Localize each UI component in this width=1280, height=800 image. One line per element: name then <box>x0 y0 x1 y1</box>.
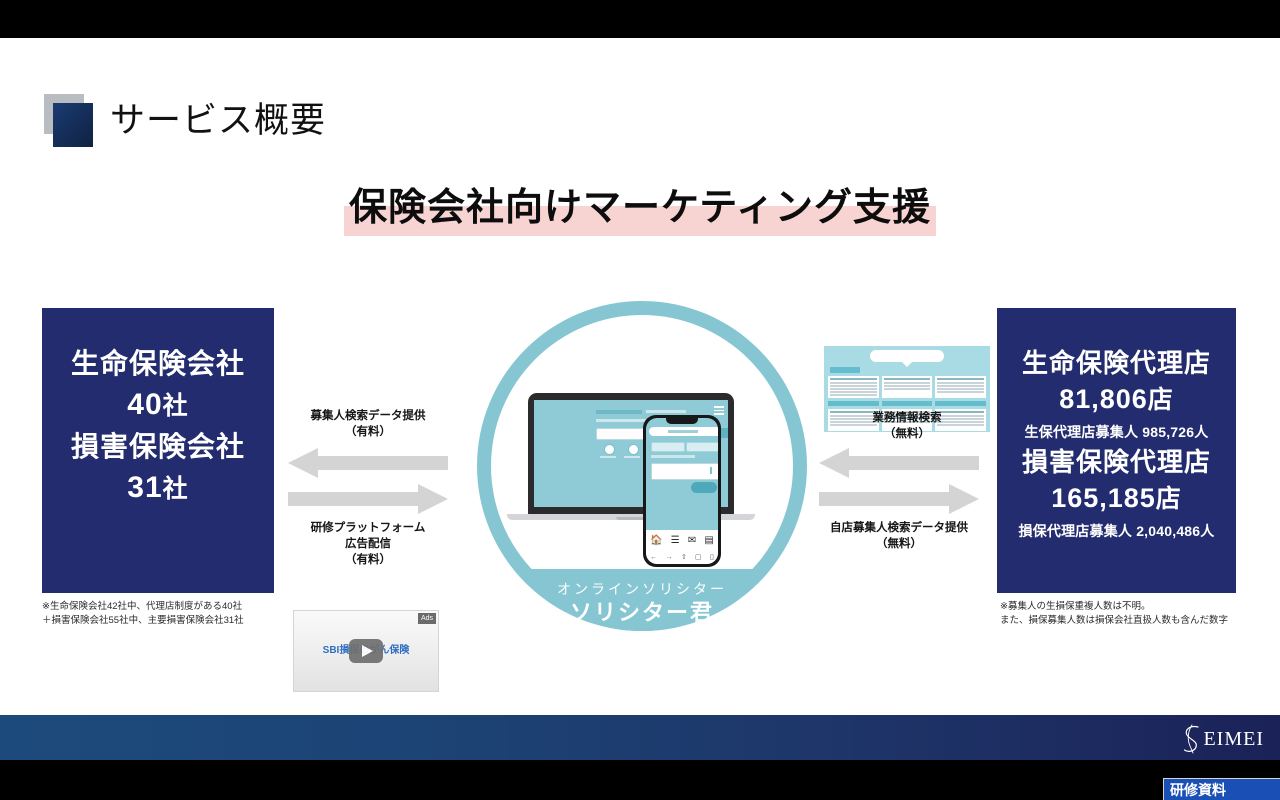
forward-icon: → <box>665 554 672 561</box>
play-button-icon[interactable] <box>349 639 383 663</box>
left-flow-top-title: 募集人検索データ提供 <box>278 408 458 424</box>
nonlife-agency-count-unit: 店 <box>1156 485 1182 513</box>
life-insurer-label: 生命保険会社 <box>42 346 274 382</box>
left-footnote-line-1: ※生命保険会社42社中、代理店制度がある40社 <box>42 600 244 614</box>
screenshot-card-label <box>882 401 933 406</box>
service-circle: 🏠 ☰ ✉ ▤ ← → ⇧ ▢ ▯ <box>477 301 807 631</box>
logo-mark-icon <box>1181 724 1203 754</box>
left-flow-bottom-title-1: 研修プラットフォーム <box>278 520 458 536</box>
insurance-companies-panel: 生命保険会社 40社 損害保険会社 31社 <box>42 308 274 593</box>
main-title-text: 保険会社向けマーケティング支援 <box>340 182 940 234</box>
nonlife-insurer-count-number: 31 <box>127 471 162 504</box>
right-arrow-inbound <box>819 448 979 478</box>
screenshot-card-label <box>828 401 879 406</box>
service-circle-label: オンラインソリシター ソリシター君 <box>477 579 807 627</box>
home-icon: 🏠 <box>650 535 662 546</box>
share-icon: ⇧ <box>681 553 687 561</box>
right-flow-top-sub: （無料） <box>817 426 997 442</box>
right-flow-bottom-label: 自店募集人検索データ提供 （無料） <box>809 520 989 552</box>
screenshot-card <box>935 376 986 398</box>
list-icon: ☰ <box>671 535 680 546</box>
bookmark-icon: ▢ <box>695 553 702 561</box>
left-footnote-line-2: ＋損害保険会社55社中、主要損害保険会社31社 <box>42 614 244 628</box>
left-footnote: ※生命保険会社42社中、代理店制度がある40社 ＋損害保険会社55社中、主要損害… <box>42 600 244 628</box>
phone-screen: 🏠 ☰ ✉ ▤ ← → ⇧ ▢ ▯ <box>646 418 718 564</box>
logo-text: EIMEI <box>1203 728 1264 751</box>
header-square-icon <box>53 103 93 147</box>
life-agency-count: 81,806店 <box>997 380 1236 419</box>
ads-badge: Ads <box>418 613 436 624</box>
right-flow-bottom-title: 自店募集人検索データ提供 <box>809 520 989 536</box>
phone-navbar: ← → ⇧ ▢ ▯ <box>646 550 718 564</box>
phone-tabbar: 🏠 ☰ ✉ ▤ <box>646 530 718 550</box>
screenshot-card <box>828 376 879 398</box>
left-arrow-inbound <box>288 448 448 478</box>
screenshot-header-pointer <box>902 362 912 367</box>
page-title: サービス概要 <box>110 94 326 148</box>
phone-notch <box>666 418 698 424</box>
screenshot-card-label <box>935 401 986 406</box>
right-flow-bottom-sub: （無料） <box>809 536 989 552</box>
right-flow-top-title: 業務情報検索 <box>817 410 997 426</box>
mail-icon: ✉ <box>688 535 696 546</box>
life-agency-count-unit: 店 <box>1148 386 1174 414</box>
life-insurer-count-unit: 社 <box>163 392 189 420</box>
life-agency-solicitors: 生保代理店募集人 985,726人 <box>997 419 1236 445</box>
insurance-agencies-panel: 生命保険代理店 81,806店 生保代理店募集人 985,726人 損害保険代理… <box>997 308 1236 593</box>
phone-mockup: 🏠 ☰ ✉ ▤ ← → ⇧ ▢ ▯ <box>643 415 721 567</box>
life-insurer-count: 40社 <box>42 382 274 429</box>
left-arrow-outbound <box>288 484 448 514</box>
service-subtitle: オンラインソリシター <box>477 579 807 599</box>
video-ad-thumbnail[interactable]: SBI損保のがん保険 Ads <box>293 610 439 692</box>
letterbox-top <box>0 0 1280 38</box>
screenshot-card <box>882 376 933 398</box>
training-material-badge: 研修資料 <box>1163 778 1280 800</box>
life-agency-count-number: 81,806 <box>1059 384 1148 414</box>
letterbox-bottom <box>0 760 1280 800</box>
nonlife-agency-label: 損害保険代理店 <box>997 445 1236 479</box>
right-arrow-outbound <box>819 484 979 514</box>
laptop-notch <box>616 517 646 520</box>
nonlife-agency-count-number: 165,185 <box>1051 483 1156 513</box>
service-name: ソリシター君 <box>477 599 807 627</box>
left-flow-bottom-label: 研修プラットフォーム 広告配信 （有料） <box>278 520 458 568</box>
slide-canvas: サービス概要 保険会社向けマーケティング支援 生命保険会社 40社 損害保険会社… <box>0 38 1280 715</box>
left-flow-bottom-sub: （有料） <box>278 552 458 568</box>
right-footnote-line-2: また、損保募集人数は損保会社直扱人数も含んだ数字 <box>1000 614 1228 628</box>
nonlife-insurer-count: 31社 <box>42 465 274 512</box>
left-flow-top-sub: （有料） <box>278 424 458 440</box>
life-agency-label: 生命保険代理店 <box>997 346 1236 380</box>
right-flow-top-label: 業務情報検索 （無料） <box>817 410 997 442</box>
right-footnote-line-1: ※募集人の生損保重複人数は不明。 <box>1000 600 1228 614</box>
nonlife-insurer-label: 損害保険会社 <box>42 429 274 465</box>
left-flow-top-label: 募集人検索データ提供 （有料） <box>278 408 458 440</box>
footer-band <box>0 715 1280 760</box>
main-title: 保険会社向けマーケティング支援 <box>340 182 940 238</box>
document-icon: ▤ <box>704 535 713 546</box>
nonlife-agency-count: 165,185店 <box>997 479 1236 518</box>
left-flow-bottom-title-2: 広告配信 <box>278 536 458 552</box>
tabs-icon: ▯ <box>710 553 714 561</box>
brand-logo: EIMEI <box>1154 722 1264 756</box>
nonlife-insurer-count-unit: 社 <box>163 475 189 503</box>
screenshot-filter-chip <box>830 367 860 373</box>
screenshot-header-pill <box>870 350 944 362</box>
life-insurer-count-number: 40 <box>127 388 162 421</box>
slide-stage: サービス概要 保険会社向けマーケティング支援 生命保険会社 40社 損害保険会社… <box>0 0 1280 800</box>
play-triangle-icon <box>362 645 373 657</box>
right-footnote: ※募集人の生損保重複人数は不明。 また、損保募集人数は損保会社直扱人数も含んだ数… <box>1000 600 1228 628</box>
back-icon: ← <box>650 554 657 561</box>
nonlife-agency-solicitors: 損保代理店募集人 2,040,486人 <box>997 518 1236 544</box>
